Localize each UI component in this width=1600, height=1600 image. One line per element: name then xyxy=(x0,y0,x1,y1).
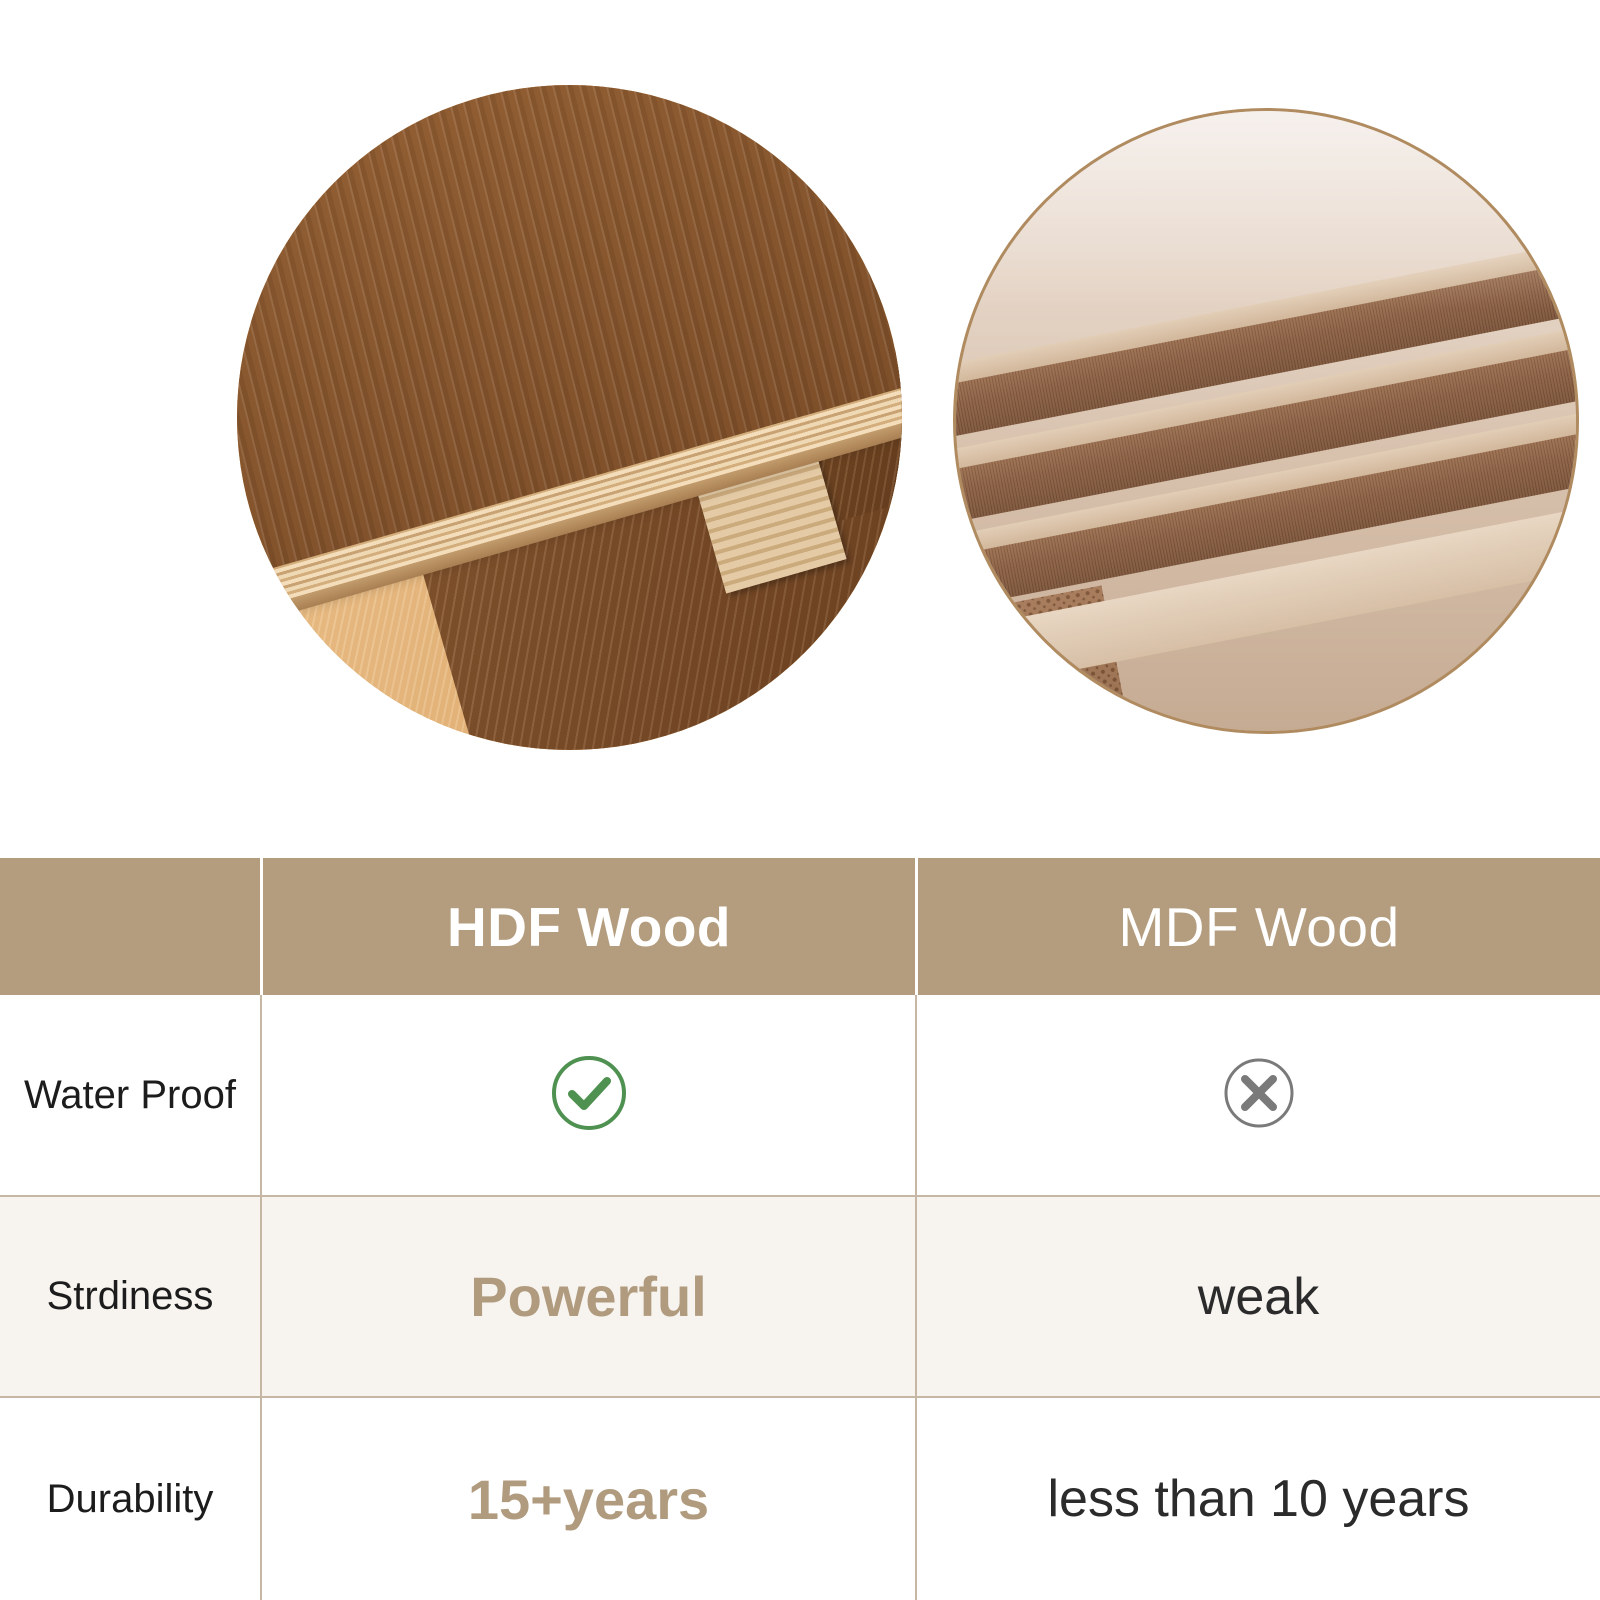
hdf-plywood-photo xyxy=(237,85,902,750)
row-label-durability: Durability xyxy=(0,1398,260,1600)
hero-image-area xyxy=(0,0,1600,858)
cell-value-text: 15+years xyxy=(468,1467,709,1532)
header-blank-cell xyxy=(0,858,260,995)
row-label-strdiness: Strdiness xyxy=(0,1197,260,1396)
row-label-text: Water Proof xyxy=(24,1073,236,1118)
comparison-table: HDF Wood MDF Wood Water Proof xyxy=(0,858,1600,1600)
cell-value-text: less than 10 years xyxy=(1047,1469,1469,1529)
cross-circle-icon xyxy=(1217,1051,1301,1140)
table-header-row: HDF Wood MDF Wood xyxy=(0,858,1600,995)
table-row: Strdiness Powerful weak xyxy=(0,1195,1600,1396)
table-row: Durability 15+years less than 10 years xyxy=(0,1396,1600,1600)
cell-mdf-water-proof xyxy=(915,995,1600,1195)
check-circle-icon xyxy=(547,1051,631,1140)
cell-hdf-durability: 15+years xyxy=(260,1398,915,1600)
table-row: Water Proof xyxy=(0,995,1600,1195)
cell-value-text: weak xyxy=(1198,1267,1319,1327)
row-label-text: Strdiness xyxy=(47,1274,214,1319)
cell-hdf-water-proof xyxy=(260,995,915,1195)
mdf-board-photo xyxy=(953,108,1579,734)
cell-mdf-strdiness: weak xyxy=(915,1197,1600,1396)
row-label-text: Durability xyxy=(47,1477,214,1522)
cell-value-text: Powerful xyxy=(470,1264,706,1329)
header-mdf-wood: MDF Wood xyxy=(915,858,1600,995)
cell-hdf-strdiness: Powerful xyxy=(260,1197,915,1396)
header-hdf-wood: HDF Wood xyxy=(260,858,915,995)
cell-mdf-durability: less than 10 years xyxy=(915,1398,1600,1600)
row-label-water-proof: Water Proof xyxy=(0,995,260,1195)
